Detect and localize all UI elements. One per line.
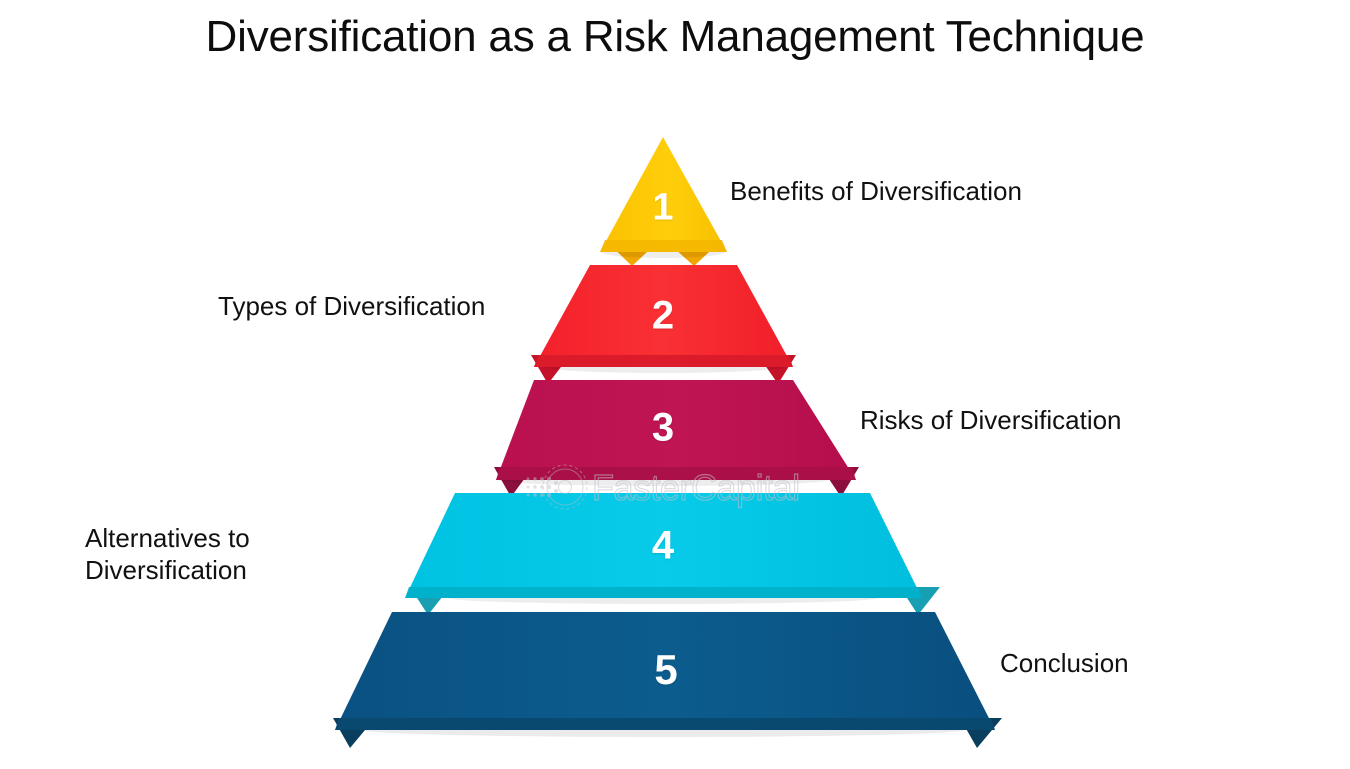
pyramid-level-5[interactable] [333,612,1002,748]
level-2-label: Types of Diversification [218,291,485,323]
pyramid-level-3[interactable] [494,380,859,497]
level-1-label: Benefits of Diversification [730,176,1022,208]
pyramid-level-2[interactable] [531,265,796,384]
pyramid-level-4[interactable] [405,493,940,615]
level-1-body [600,137,727,252]
pyramid-graphic [0,0,1350,769]
level-3-label: Risks of Diversification [860,405,1122,437]
level-2-lip [534,355,793,367]
level-5-body [335,612,995,730]
pyramid-infographic-canvas: Diversification as a Risk Management Tec… [0,0,1350,769]
level-3-body [496,380,856,480]
level-2-body [534,265,793,367]
level-5-label: Conclusion [1000,648,1129,680]
level-4-body [405,493,922,598]
level-1-lip [600,240,727,252]
level-5-lip [335,718,995,730]
pyramid-level-1[interactable] [600,137,727,266]
level-3-lip [496,467,856,480]
level-4-label: Alternatives to Diversification [85,523,250,586]
level-4-lip [405,587,922,598]
